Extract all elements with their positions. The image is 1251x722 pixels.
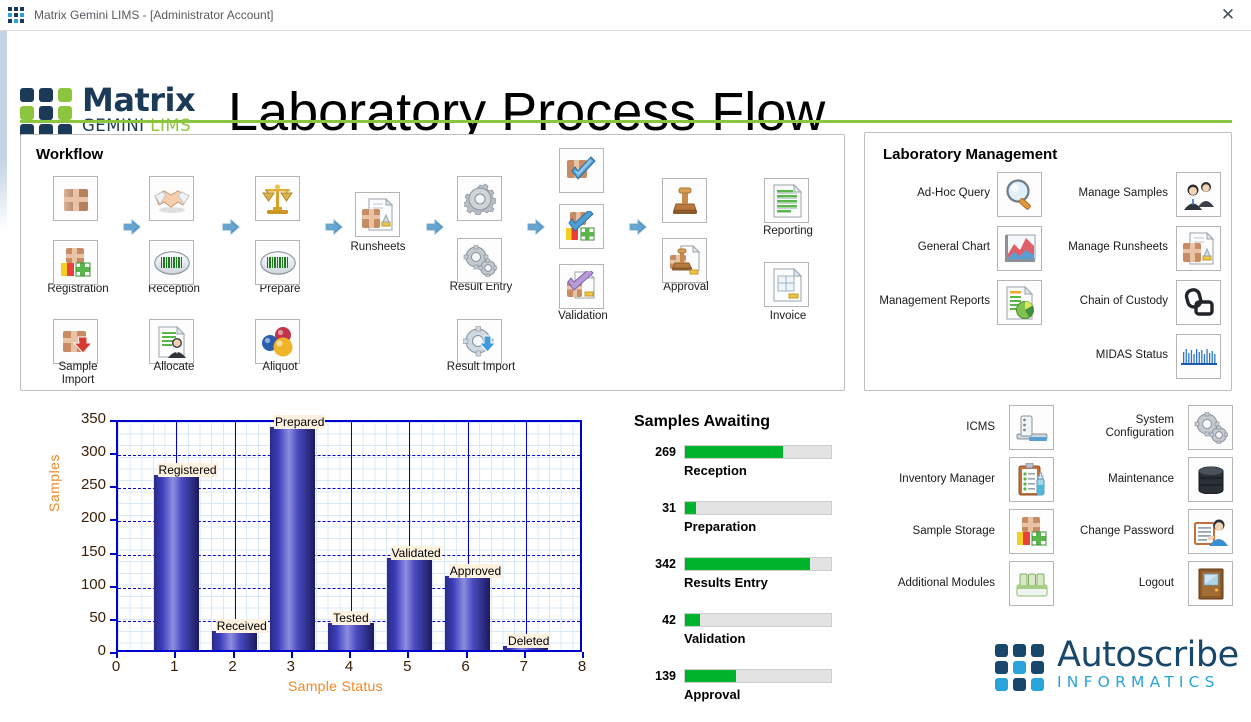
- window-title-text: Matrix Gemini LIMS - [Administrator Acco…: [34, 8, 273, 22]
- chart-x-tick-label: 6: [454, 658, 478, 675]
- handshake-icon: [153, 184, 191, 214]
- crate-icon: [1015, 571, 1049, 597]
- chart-y-tick-mark: [110, 519, 116, 521]
- logo-brand: Matrix: [82, 83, 195, 117]
- awaiting-count: 31: [634, 501, 676, 515]
- module-item-label-icms: ICMS: [885, 421, 995, 434]
- awaiting-label: Results Entry: [684, 575, 768, 590]
- labmgmt-item-midas-status[interactable]: [1176, 334, 1221, 379]
- awaiting-progress-track: [684, 501, 832, 515]
- balance-scale-icon: [261, 183, 295, 215]
- workflow-item-invoice[interactable]: [764, 262, 809, 307]
- chart-bar-label: Approved: [449, 564, 502, 578]
- sample-colorbox-icon: [1014, 515, 1050, 549]
- awaiting-label: Reception: [684, 463, 747, 478]
- module-item-sample-storage[interactable]: [1009, 509, 1054, 554]
- chart-x-tick-label: 0: [104, 658, 128, 675]
- page-header: Matrix GEMINI LIMS Laboratory Process Fl…: [0, 31, 1251, 131]
- runsheet-icon: [1181, 232, 1217, 266]
- report-doc-icon: [771, 184, 803, 218]
- labmgmt-item-chain-of-custody[interactable]: [1176, 280, 1221, 325]
- chart-bar[interactable]: [445, 575, 490, 650]
- barcode-oval-icon: [260, 250, 296, 276]
- modules-section: [880, 400, 1232, 625]
- workflow-item-result-entry[interactable]: [457, 176, 502, 221]
- workflow-arrow-icon: [325, 219, 343, 235]
- chart-bar-label: Prepared: [274, 415, 325, 429]
- gear-icon: [464, 183, 496, 215]
- awaiting-row[interactable]: 139Approval: [634, 669, 864, 711]
- workflow-item-check-doc-icon[interactable]: [559, 264, 604, 309]
- workflow-item-label-validation: Validation: [527, 310, 639, 323]
- chart-x-tick-mark: [116, 652, 118, 658]
- awaiting-progress-fill: [685, 614, 700, 626]
- stamp-icon: [670, 186, 700, 216]
- module-item-label-logout: Logout: [1064, 577, 1174, 590]
- allocate-person-icon: [155, 325, 189, 359]
- chart-bar-label: Registered: [158, 463, 218, 477]
- module-item-label-sample-storage: Sample Storage: [885, 525, 995, 538]
- awaiting-count: 269: [634, 445, 676, 459]
- awaiting-label: Preparation: [684, 519, 756, 534]
- chart-y-tick-label: 200: [60, 509, 106, 526]
- module-item-label-additional-modules: Additional Modules: [875, 577, 995, 590]
- labmgmt-item-management-reports[interactable]: [997, 280, 1042, 325]
- labmgmt-item-manage-runsheets[interactable]: [1176, 226, 1221, 271]
- autoscribe-grid-icon: [995, 644, 1049, 692]
- app-grid-icon: [8, 7, 24, 23]
- chart-x-tick-label: 8: [570, 658, 594, 675]
- logo-subtitle-lims: LIMS: [150, 116, 191, 135]
- close-icon[interactable]: ✕: [1205, 0, 1251, 30]
- labmgmt-item-label-manage-samples: Manage Samples: [1056, 187, 1168, 200]
- autoscribe-brand: Autoscribe: [1057, 636, 1239, 674]
- awaiting-progress-track: [684, 557, 832, 571]
- workflow-item-sample-colorbox-icon[interactable]: [53, 240, 98, 285]
- chart-bar-label: Received: [216, 619, 268, 633]
- area-chart-icon: [1003, 234, 1037, 264]
- workflow-item-sample-import[interactable]: [53, 319, 98, 364]
- chart-bar[interactable]: [154, 474, 199, 650]
- instrument-icon: [1015, 413, 1049, 443]
- chart-x-tick-mark: [407, 652, 409, 658]
- awaiting-row[interactable]: 31Preparation: [634, 501, 864, 543]
- door-icon: [1197, 568, 1225, 600]
- labmgmt-item-label-chain-of-custody: Chain of Custody: [1050, 295, 1168, 308]
- sample-status-chart: Samples Sample Status RegisteredReceived…: [20, 404, 600, 704]
- chart-x-tick-mark: [524, 652, 526, 658]
- check-box-icon: [565, 156, 599, 186]
- labmgmt-item-ad-hoc-query[interactable]: [997, 172, 1042, 217]
- gears-icon: [463, 245, 497, 277]
- awaiting-progress-track: [684, 613, 832, 627]
- people-icon: [1182, 179, 1216, 211]
- laboratory-management-title: Laboratory Management: [883, 146, 1057, 163]
- invoice-icon: [771, 268, 803, 302]
- chart-gridline-h: [118, 455, 580, 456]
- module-item-inventory-manager[interactable]: [1009, 457, 1054, 502]
- module-item-maintenance[interactable]: [1188, 457, 1233, 502]
- workflow-item-approval[interactable]: [662, 178, 707, 223]
- workflow-item-barcode-oval-icon[interactable]: [255, 240, 300, 285]
- module-item-icms[interactable]: [1009, 405, 1054, 450]
- stamp-doc-icon: [668, 245, 702, 277]
- chart-y-tick-mark: [110, 420, 116, 422]
- workflow-arrow-icon: [527, 219, 545, 235]
- pie-report-icon: [1004, 286, 1036, 320]
- labmgmt-item-label-manage-runsheets: Manage Runsheets: [1050, 241, 1168, 254]
- workflow-item-gears-icon[interactable]: [457, 238, 502, 283]
- chart-x-tick-mark: [233, 652, 235, 658]
- chart-bar[interactable]: [387, 557, 432, 650]
- user-form-icon: [1194, 517, 1228, 547]
- chart-x-tick-label: 2: [221, 658, 245, 675]
- workflow-panel-title: Workflow: [36, 146, 103, 163]
- labmgmt-item-label-midas-status: MIDAS Status: [1050, 349, 1168, 362]
- module-item-logout[interactable]: [1188, 561, 1233, 606]
- workflow-item-allocate[interactable]: [149, 319, 194, 364]
- chart-bar[interactable]: [270, 426, 315, 650]
- chart-gridline-v: [235, 422, 236, 650]
- workflow-item-label-reporting: Reporting: [732, 225, 844, 238]
- chart-bar[interactable]: [328, 622, 373, 650]
- chart-y-tick-mark: [110, 586, 116, 588]
- samples-awaiting-section: Samples Awaiting 269Reception31Preparati…: [634, 413, 864, 711]
- awaiting-count: 342: [634, 557, 676, 571]
- awaiting-row[interactable]: 269Reception: [634, 445, 864, 487]
- workflow-item-label-invoice: Invoice: [732, 310, 844, 323]
- chart-gridline-v: [526, 422, 527, 650]
- chart-y-tick-mark: [110, 453, 116, 455]
- awaiting-progress-fill: [685, 558, 810, 570]
- workflow-arrow-icon: [426, 219, 444, 235]
- workflow-item-label-allocate: Allocate: [118, 361, 230, 374]
- chart-y-tick-label: 0: [60, 642, 106, 659]
- chart-x-tick-mark: [349, 652, 351, 658]
- workflow-item-validation[interactable]: [559, 148, 604, 193]
- chart-x-tick-mark: [174, 652, 176, 658]
- awaiting-progress-fill: [685, 670, 736, 682]
- awaiting-row[interactable]: 42Validation: [634, 613, 864, 655]
- workflow-item-label-runsheets: Runsheets: [322, 241, 434, 254]
- chart-y-tick-mark: [110, 553, 116, 555]
- sample-import-icon: [59, 326, 93, 358]
- samples-awaiting-title: Samples Awaiting: [634, 413, 864, 431]
- chart-x-tick-label: 3: [279, 658, 303, 675]
- chart-y-tick-label: 100: [60, 576, 106, 593]
- module-item-label-change-password: Change Password: [1054, 525, 1174, 538]
- workflow-item-registration[interactable]: [53, 176, 98, 221]
- workflow-item-label-result-import: Result Import: [425, 361, 537, 374]
- left-edge-decoration: [0, 31, 7, 722]
- gears-icon: [1194, 412, 1228, 444]
- workflow-arrow-icon: [123, 219, 141, 235]
- chart-x-tick-label: 5: [395, 658, 419, 675]
- workflow-item-aliquot[interactable]: [255, 319, 300, 364]
- module-item-label-maintenance: Maintenance: [1064, 473, 1174, 486]
- workflow-item-barcode-oval-icon[interactable]: [149, 240, 194, 285]
- workflow-arrow-icon: [222, 219, 240, 235]
- sample-colorbox-icon: [58, 246, 94, 280]
- chart-bar-label: Deleted: [507, 634, 550, 648]
- workflow-item-check-color-icon[interactable]: [559, 204, 604, 249]
- matrix-grid-icon: [20, 88, 76, 138]
- sample-box-icon: [59, 182, 93, 216]
- module-item-additional-modules[interactable]: [1009, 561, 1054, 606]
- awaiting-progress-track: [684, 445, 832, 459]
- labmgmt-item-label-general-chart: General Chart: [880, 241, 990, 254]
- chart-plot-area: RegisteredReceivedPreparedTestedValidate…: [116, 420, 582, 652]
- chain-link-icon: [1183, 288, 1215, 318]
- workflow-item-label-aliquot: Aliquot: [224, 361, 336, 374]
- clipboard-bottle-icon: [1016, 463, 1048, 497]
- chart-x-tick-label: 4: [337, 658, 361, 675]
- header-divider: [20, 120, 1232, 123]
- runsheet-icon: [360, 198, 396, 232]
- chart-y-tick-mark: [110, 619, 116, 621]
- workflow-item-stamp-doc-icon[interactable]: [662, 238, 707, 283]
- chart-y-tick-label: 300: [60, 443, 106, 460]
- waveform-icon: [1181, 346, 1217, 368]
- module-item-label-system-configuration: System Configuration: [1064, 414, 1174, 439]
- labmgmt-item-label-management-reports: Management Reports: [866, 295, 990, 308]
- window-titlebar: Matrix Gemini LIMS - [Administrator Acco…: [0, 0, 1251, 31]
- awaiting-label: Validation: [684, 631, 745, 646]
- chart-y-tick-label: 250: [60, 476, 106, 493]
- workflow-item-reporting[interactable]: [764, 178, 809, 223]
- check-color-icon: [564, 211, 600, 243]
- workflow-item-prepare[interactable]: [255, 176, 300, 221]
- chart-y-tick-label: 350: [60, 410, 106, 427]
- chart-bar-label: Validated: [391, 546, 442, 560]
- labmgmt-item-manage-samples[interactable]: [1176, 172, 1221, 217]
- workflow-item-result-import[interactable]: [457, 319, 502, 364]
- awaiting-row[interactable]: 342Results Entry: [634, 557, 864, 599]
- awaiting-count: 139: [634, 669, 676, 683]
- module-item-label-inventory-manager: Inventory Manager: [875, 473, 995, 486]
- awaiting-progress-fill: [685, 446, 783, 458]
- barcode-oval-icon: [154, 250, 190, 276]
- chart-x-tick-mark: [582, 652, 584, 658]
- chart-x-tick-label: 7: [512, 658, 536, 675]
- workflow-panel: Workflow: [20, 134, 845, 391]
- workflow-arrow-icon: [629, 219, 647, 235]
- chart-x-axis-title: Sample Status: [288, 678, 383, 694]
- labmgmt-item-general-chart[interactable]: [997, 226, 1042, 271]
- awaiting-label: Approval: [684, 687, 740, 702]
- workflow-item-runsheets[interactable]: [355, 192, 400, 237]
- awaiting-progress-track: [684, 669, 832, 683]
- magnifier-icon: [1003, 178, 1037, 212]
- labmgmt-item-label-ad-hoc-query: Ad-Hoc Query: [880, 187, 990, 200]
- chart-y-tick-label: 150: [60, 543, 106, 560]
- chart-x-tick-mark: [466, 652, 468, 658]
- chart-bar-label: Tested: [332, 611, 369, 625]
- check-doc-icon: [564, 271, 600, 303]
- logo-subtitle-gemini: GEMINI: [82, 116, 150, 135]
- awaiting-progress-fill: [685, 502, 696, 514]
- awaiting-count: 42: [634, 613, 676, 627]
- chart-x-tick-label: 1: [162, 658, 186, 675]
- module-item-change-password[interactable]: [1188, 509, 1233, 554]
- database-icon: [1196, 466, 1226, 494]
- autoscribe-logo: Autoscribe INFORMATICS: [995, 640, 1235, 702]
- chart-x-tick-mark: [291, 652, 293, 658]
- workflow-item-reception[interactable]: [149, 176, 194, 221]
- module-item-system-configuration[interactable]: [1188, 405, 1233, 450]
- chart-y-tick-mark: [110, 486, 116, 488]
- chart-y-tick-label: 50: [60, 609, 106, 626]
- autoscribe-subtitle: INFORMATICS: [1057, 674, 1239, 691]
- gear-import-icon: [463, 326, 497, 358]
- spheres-icon: [261, 326, 295, 358]
